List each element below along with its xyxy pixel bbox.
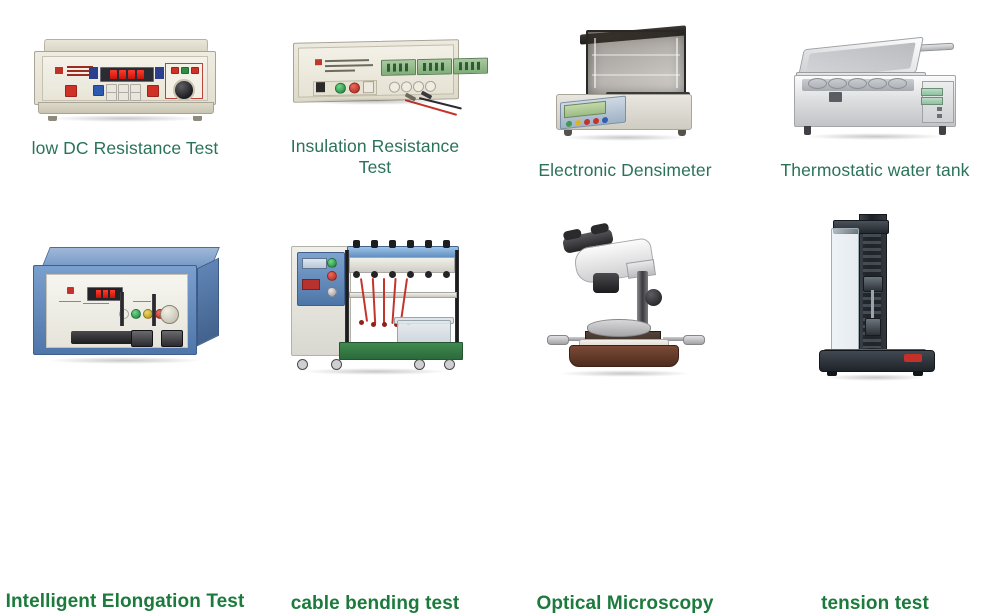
insulation-resistance-tester-illustration <box>287 37 463 119</box>
terminal-lamp <box>181 67 189 74</box>
immersion-ring <box>808 78 827 89</box>
brand-logo <box>55 67 63 74</box>
led-display <box>100 67 154 82</box>
low-dc-resistance-tester-illustration <box>34 39 216 117</box>
product-image-optical-microscopy[interactable] <box>500 222 750 377</box>
caption-optical-microscopy: Optical Microscopy <box>500 592 750 615</box>
panel-text-line <box>67 74 89 76</box>
instrument-front-panel <box>42 56 208 101</box>
brand-logo <box>67 287 74 294</box>
front-panel <box>46 274 188 348</box>
base-board <box>339 342 463 360</box>
cabinet-side <box>197 258 219 347</box>
product-cell-low-dc-resistance-test[interactable]: low DC Resistance Test <box>0 0 250 212</box>
counter-display <box>302 279 320 290</box>
brand-logo <box>829 92 842 102</box>
tension-tester-illustration <box>815 206 935 376</box>
key-blue[interactable] <box>602 117 608 124</box>
led-digit <box>119 70 126 79</box>
clamp-foot <box>443 271 450 278</box>
panel-text-line <box>133 301 151 302</box>
caption-low-dc-resistance-test: low DC Resistance Test <box>0 138 250 159</box>
drop-shadow <box>49 115 202 122</box>
product-image-intelligent-elongation-test[interactable] <box>0 240 250 366</box>
product-image-electronic-densimeter[interactable] <box>500 20 750 140</box>
immersion-ring <box>828 78 847 89</box>
indicator-lamp-red[interactable] <box>327 271 337 281</box>
product-cell-tension-test[interactable]: tension test <box>750 212 1000 423</box>
panel-text-line <box>83 303 109 304</box>
test-button[interactable] <box>401 81 412 92</box>
brand-logo <box>315 59 322 65</box>
key-yellow[interactable] <box>575 120 581 127</box>
control-button[interactable] <box>937 107 942 111</box>
control-button[interactable] <box>937 114 942 118</box>
lcd-display <box>302 258 327 269</box>
immersion-ring <box>868 78 887 89</box>
drop-shadow <box>558 370 692 377</box>
drop-shadow <box>804 133 947 140</box>
safety-guard <box>831 228 859 352</box>
test-cable <box>372 278 376 324</box>
caption-intelligent-elongation-test: Intelligent Elongation Test <box>0 590 250 613</box>
panel-text-line <box>325 69 355 71</box>
socket-panel[interactable] <box>363 81 374 93</box>
x-axis-micrometer[interactable] <box>547 335 569 345</box>
terminal-lamp <box>191 67 199 74</box>
clamp-block-row <box>349 257 455 273</box>
chamber-shelf <box>592 74 680 76</box>
panel-text-line <box>59 301 81 302</box>
drop-shadow <box>562 134 688 141</box>
product-cell-optical-microscopy[interactable]: Optical Microscopy <box>500 212 750 423</box>
keypad-button[interactable] <box>130 92 141 101</box>
clamp-rod-left <box>120 292 124 326</box>
led-digit <box>110 290 115 298</box>
intelligent-elongation-tester-illustration <box>31 247 219 359</box>
rotating-stage[interactable] <box>587 319 651 337</box>
led-digit <box>96 290 101 298</box>
led-digit <box>128 70 135 79</box>
key-green[interactable] <box>566 121 572 128</box>
wooden-base <box>569 345 679 367</box>
clamp-head[interactable] <box>389 240 396 248</box>
y-axis-micrometer[interactable] <box>683 335 705 345</box>
cable-weight <box>359 320 364 325</box>
test-cable <box>360 278 368 322</box>
power-button-red[interactable] <box>65 85 77 97</box>
optical-microscope-illustration <box>545 227 705 372</box>
keypad-button[interactable] <box>106 92 117 101</box>
clamp-foot <box>353 271 360 278</box>
terminal-lamp <box>171 67 179 74</box>
product-image-cable-bending-test[interactable] <box>250 226 500 376</box>
drop-shadow <box>301 98 449 105</box>
clamp-foot <box>371 271 378 278</box>
instrument-front-panel <box>298 44 454 97</box>
function-button-blue[interactable] <box>93 85 104 96</box>
cable-weight <box>371 322 376 327</box>
cable-bending-tester-illustration <box>287 232 463 370</box>
lower-clamp-left[interactable] <box>131 330 153 347</box>
product-grid: low DC Resistance Test <box>0 0 1000 423</box>
chamber-glass-edge <box>594 38 596 88</box>
support-post-left <box>345 250 349 354</box>
test-button[interactable] <box>425 81 436 92</box>
lower-clamp-right[interactable] <box>161 330 183 347</box>
output-connector[interactable] <box>173 79 195 101</box>
lcd-display-time <box>453 58 488 75</box>
key-red[interactable] <box>593 118 599 125</box>
temperature-display <box>921 88 943 96</box>
clamp-foot <box>407 271 414 278</box>
control-knob[interactable] <box>327 287 337 297</box>
led-digit <box>103 290 108 298</box>
specimen <box>871 290 874 318</box>
drop-shadow <box>46 357 204 364</box>
test-cable <box>383 278 385 324</box>
focus-knob[interactable] <box>645 289 662 306</box>
clamp-head[interactable] <box>425 240 432 248</box>
led-digit <box>110 70 117 79</box>
indicator-lamp-green <box>131 309 141 319</box>
product-image-thermostatic-water-tank[interactable] <box>750 34 1000 144</box>
product-cell-electronic-densimeter[interactable]: Electronic Densimeter <box>500 0 750 212</box>
electronic-densimeter-illustration <box>550 24 700 136</box>
panel-text-line <box>325 59 369 61</box>
product-image-tension-test[interactable] <box>750 198 1000 384</box>
machine-base <box>819 350 935 372</box>
test-button[interactable] <box>389 81 400 92</box>
test-cable <box>400 278 408 322</box>
caption-insulation-resistance-test: Insulation Resistance Test <box>250 136 500 179</box>
led-digit <box>137 70 144 79</box>
product-cell-cable-bending-test[interactable]: cable bending test <box>250 212 500 423</box>
caption-thermostatic-water-tank: Thermostatic water tank <box>750 160 1000 181</box>
caption-line-1: Insulation Resistance <box>250 136 500 157</box>
objective-lens <box>593 273 619 293</box>
cable-weight <box>382 322 387 327</box>
product-cell-insulation-resistance-test[interactable]: Insulation Resistance Test <box>250 0 500 212</box>
clamp-rod-right <box>152 294 156 326</box>
rotary-switch[interactable] <box>160 305 179 324</box>
thermostatic-water-tank-illustration <box>790 43 960 135</box>
brand-logo <box>904 354 922 362</box>
drop-shadow <box>825 374 926 381</box>
panel-text-line <box>325 64 373 67</box>
clamp-head[interactable] <box>353 240 360 248</box>
lcd-display-resistance <box>417 58 452 75</box>
product-cell-intelligent-elongation-test[interactable]: Intelligent Elongation Test <box>0 212 250 423</box>
key-red[interactable] <box>584 119 590 126</box>
chamber-glass-edge <box>676 38 678 88</box>
setpoint-display <box>921 97 943 105</box>
led-display <box>87 287 123 301</box>
drop-shadow <box>301 368 449 375</box>
clamp-foot <box>425 271 432 278</box>
product-cell-thermostatic-water-tank[interactable]: Thermostatic water tank <box>750 0 1000 212</box>
instrument-base <box>38 102 214 114</box>
caption-line-2: Test <box>250 157 500 178</box>
instrument-body <box>34 51 216 105</box>
lower-grip[interactable] <box>865 318 881 336</box>
clamp-head[interactable] <box>371 240 378 248</box>
test-chamber <box>586 30 686 96</box>
product-image-low-dc-resistance-test[interactable] <box>0 28 250 128</box>
control-panel[interactable] <box>922 81 954 123</box>
clamp-head[interactable] <box>443 240 450 248</box>
chamber-shelf <box>592 54 680 56</box>
indicator-lamp-green <box>327 258 337 268</box>
cabinet-frame <box>33 265 197 355</box>
lcd-display-voltage <box>381 59 416 76</box>
stop-button-red[interactable] <box>147 85 159 97</box>
keypad-button[interactable] <box>118 92 129 101</box>
range-indicator <box>155 67 164 79</box>
clamp-foot <box>389 271 396 278</box>
support-post-right <box>455 250 459 354</box>
range-indicator <box>89 67 98 79</box>
product-image-insulation-resistance-test[interactable] <box>250 26 500 130</box>
clamp-head[interactable] <box>407 240 414 248</box>
immersion-ring <box>888 78 907 89</box>
caption-electronic-densimeter: Electronic Densimeter <box>500 160 750 181</box>
caption-cable-bending-test: cable bending test <box>250 592 500 615</box>
display-window <box>316 82 325 92</box>
caption-tension-test: tension test <box>750 592 1000 615</box>
immersion-ring <box>848 78 867 89</box>
